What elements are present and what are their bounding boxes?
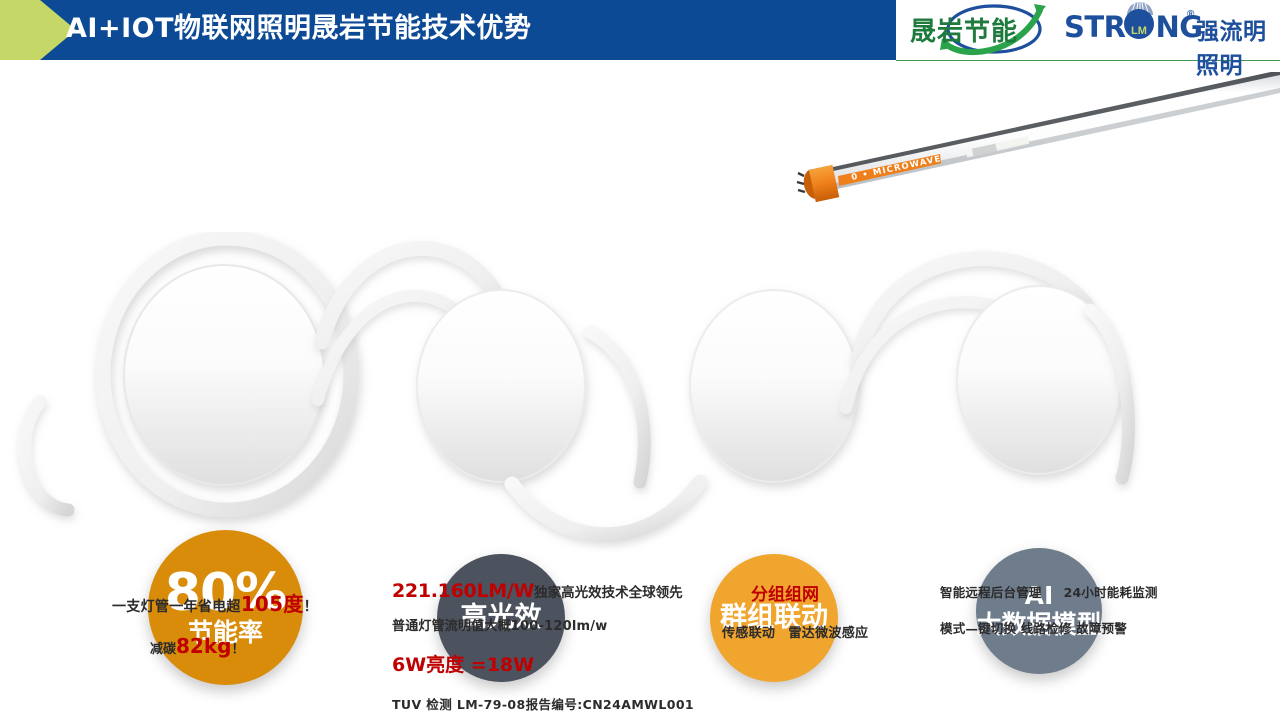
- detail-text: 一支灯管一年省电超: [112, 599, 241, 615]
- detail-text: ！: [304, 599, 318, 615]
- registered-trademark-icon: ®: [1187, 9, 1194, 20]
- logo-brand-cn2: 强流明照明: [1196, 12, 1280, 80]
- page-title: AI+IOT物联网照明晟岩节能技术优势: [66, 0, 531, 60]
- text-energy-saving-detail: 一支灯管一年省电超105度！ 减碳82kg！: [112, 588, 372, 658]
- detail-line: 一支灯管一年省电超105度！: [112, 588, 372, 617]
- ribbon-graphic: [0, 232, 1280, 552]
- detail-line: 减碳82kg！: [112, 634, 372, 658]
- detail-text: 独家高光效技术全球领先: [534, 585, 683, 601]
- feature-diagram: 80% 节能率 高光效 群组联动 AI 大数据模型: [0, 232, 1280, 552]
- detail-highlight: 221.160LM/W: [392, 580, 534, 602]
- detail-text: 减碳: [150, 642, 176, 657]
- text-ai-management-detail: 智能远程后台管理24小时能耗监测 模式—键切换 线路检修 故障预警: [940, 582, 1210, 637]
- detail-line: 221.160LM/W独家高光效技术全球领先: [392, 580, 722, 602]
- detail-text: ！: [231, 642, 244, 657]
- detail-highlight: 6W亮度 =18W: [392, 650, 722, 677]
- logo-brand-en-head: STR: [1064, 10, 1126, 44]
- slide-header: AI+IOT物联网照明晟岩节能技术优势 晟岩节能 STRNG LM ® 强流明照…: [0, 0, 1280, 60]
- text-group-networking-detail: 分组组网 传感联动 雷达微波感应: [751, 580, 951, 641]
- logo-brand-cn: 晟岩节能: [910, 11, 1018, 48]
- text-luminous-efficiency-detail: 221.160LM/W独家高光效技术全球领先 普通灯管流明值大概100-120l…: [392, 580, 722, 713]
- detail-line: 模式—键切换 线路检修 故障预警: [940, 618, 1210, 637]
- slide: AI+IOT物联网照明晟岩节能技术优势 晟岩节能 STRNG LM ® 强流明照…: [0, 0, 1280, 720]
- detail-line: 传感联动 雷达微波感应: [722, 622, 951, 641]
- detail-line: TUV 检测 LM-79-08报告编号:CN24AMWL001: [392, 694, 722, 713]
- logo-lm-badge: LM: [1124, 9, 1154, 39]
- led-tube-image: 0 • MICROWAVE: [760, 72, 1280, 202]
- detail-line: 智能远程后台管理24小时能耗监测: [940, 582, 1210, 601]
- detail-highlight: 105度: [241, 592, 304, 616]
- detail-text: 智能远程后台管理: [940, 585, 1042, 600]
- detail-highlight: 82kg: [176, 634, 231, 658]
- detail-highlight: 分组组网: [751, 580, 951, 605]
- brand-logo: 晟岩节能 STRNG LM ® 强流明照明: [896, 0, 1280, 61]
- detail-line: 普通灯管流明值大概100-120lm/w: [392, 615, 722, 634]
- detail-text: 24小时能耗监测: [1064, 585, 1158, 600]
